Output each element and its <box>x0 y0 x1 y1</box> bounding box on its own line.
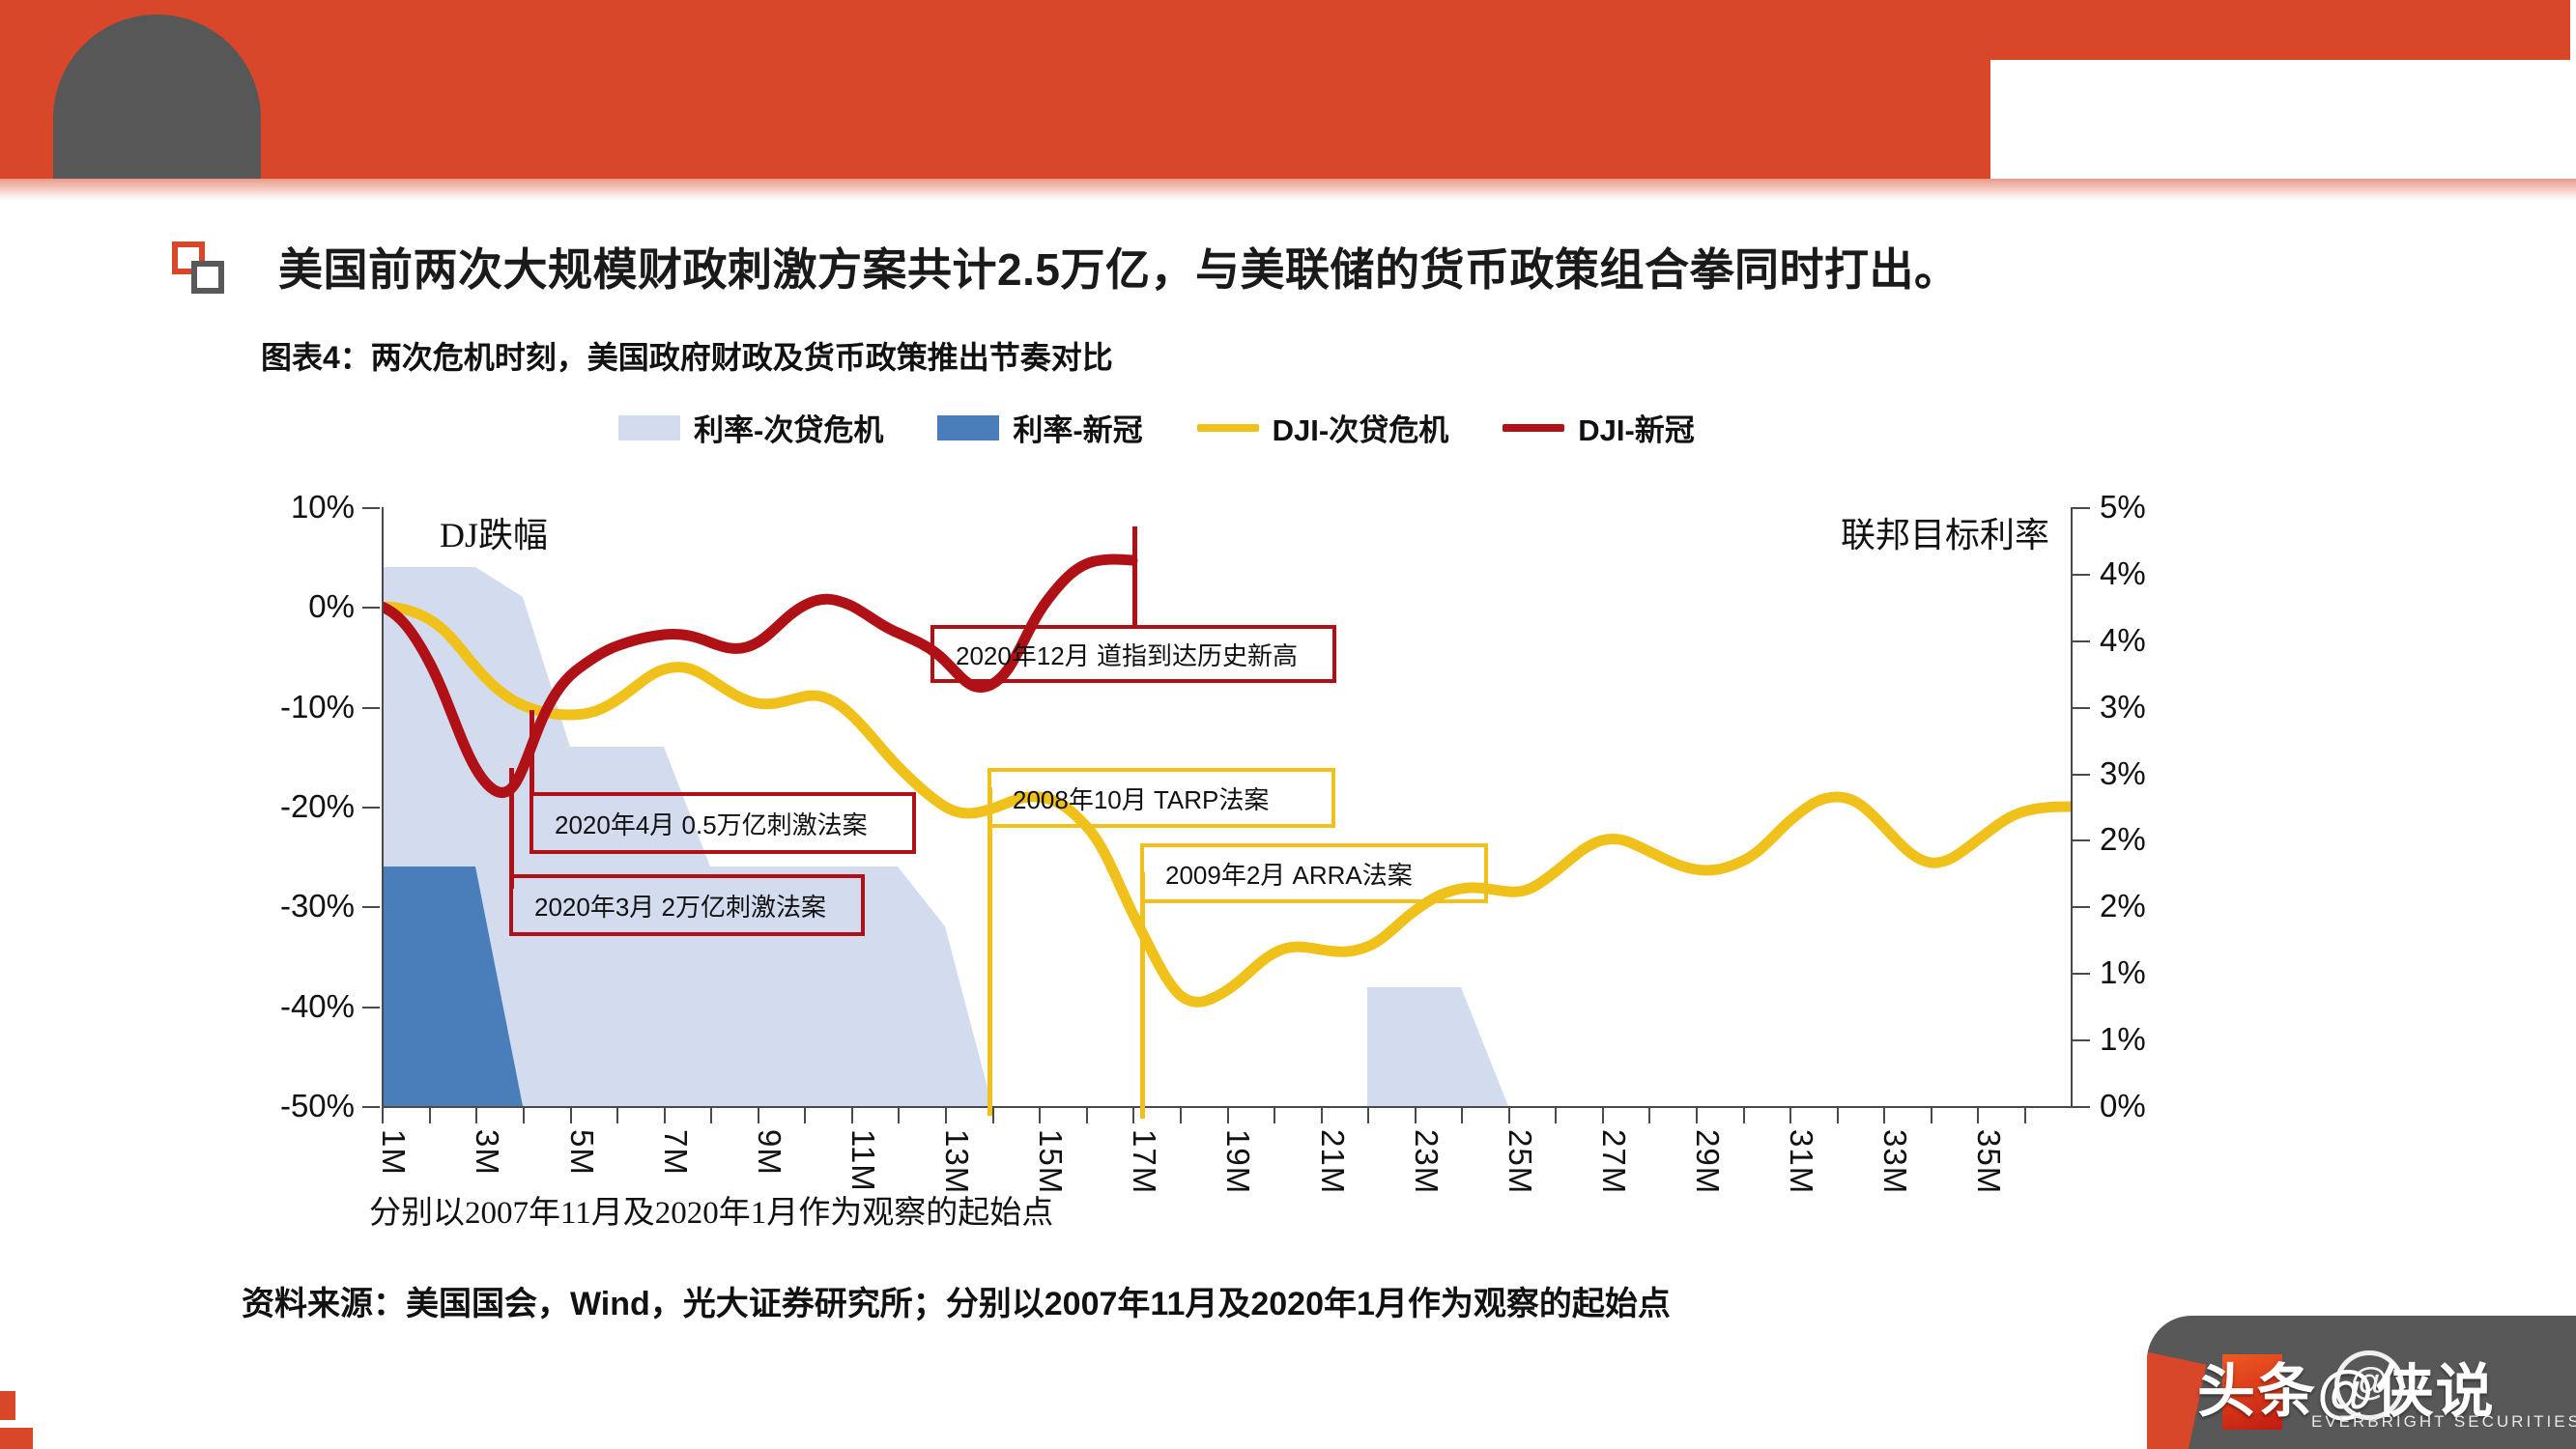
x-tick <box>945 1106 947 1123</box>
callout-text: 2020年12月 道指到达历史新高 <box>956 637 1298 672</box>
x-label: 15M <box>1032 1129 1069 1194</box>
x-tick <box>475 1106 477 1123</box>
x-label: 9M <box>751 1129 787 1176</box>
y-label-left: -40% <box>280 988 355 1025</box>
chart-plot-area: 10% 0% -10% -20% -30% -40% -50% 5% 4% 4%… <box>0 488 2576 1125</box>
y-label-right: 3% <box>2100 689 2146 725</box>
legend-swatch-icon <box>618 415 680 440</box>
y-tick-right <box>2073 774 2090 776</box>
y-tick-right <box>2073 973 2090 975</box>
y-axis-left-title: DJ跌幅 <box>440 507 548 557</box>
y-label-left: -30% <box>280 888 355 924</box>
x-label: 25M <box>1502 1129 1538 1194</box>
y-tick-right <box>2073 707 2090 709</box>
y-tick-right <box>2073 1039 2090 1041</box>
x-tick <box>570 1106 572 1123</box>
legend-label: 利率-次贷危机 <box>694 406 883 449</box>
y-tick-left <box>362 707 380 709</box>
legend-item[interactable]: DJI-新冠 <box>1503 406 1695 449</box>
y-label-right: 2% <box>2100 821 2146 858</box>
x-tick <box>1696 1106 1698 1123</box>
y-tick-right <box>2073 839 2090 841</box>
x-tick <box>1883 1106 1885 1123</box>
legend-swatch-icon <box>937 415 999 440</box>
x-label: 5M <box>563 1129 600 1176</box>
y-label-left: 10% <box>291 489 355 526</box>
y-tick-left <box>362 906 380 908</box>
legend-item[interactable]: 利率-新冠 <box>937 406 1142 449</box>
y-label-right: 1% <box>2100 954 2146 991</box>
x-tick <box>523 1106 525 1123</box>
x-tick <box>1648 1106 1650 1123</box>
y-axis-right-line <box>2071 507 2073 1106</box>
y-label-right: 2% <box>2100 888 2146 924</box>
legend-line-icon <box>1503 424 1564 432</box>
callout-stem-arra <box>1140 872 1145 1119</box>
y-axis-right-title: 联邦目标利率 <box>1841 507 2049 557</box>
header-shadow <box>0 179 2576 200</box>
callout-stem-april-2020 <box>530 710 534 792</box>
x-tick <box>429 1106 431 1123</box>
bottom-left-accent <box>0 1428 33 1449</box>
callout-dji-record-high: 2020年12月 道指到达历史新高 <box>930 625 1336 683</box>
y-tick-left <box>362 607 380 609</box>
x-label: 7M <box>657 1129 694 1176</box>
y-axis-left-line <box>382 507 384 1106</box>
y-tick-right <box>2073 906 2090 908</box>
y-tick-right <box>2073 507 2090 509</box>
y-label-left: -50% <box>280 1088 355 1124</box>
x-tick <box>992 1106 994 1123</box>
x-tick <box>1461 1106 1463 1123</box>
header-band <box>0 0 1990 179</box>
legend-label: DJI-新冠 <box>1578 406 1695 449</box>
x-tick <box>616 1106 618 1123</box>
x-label: 31M <box>1783 1129 1819 1194</box>
x-tick <box>804 1106 806 1123</box>
legend-item[interactable]: DJI-次贷危机 <box>1197 406 1449 449</box>
double-square-icon <box>172 241 226 296</box>
x-tick <box>2024 1106 2026 1123</box>
x-tick <box>1743 1106 1745 1123</box>
x-tick <box>1086 1106 1088 1123</box>
legend-label: 利率-新冠 <box>1013 406 1142 449</box>
callout-arra-2009: 2009年2月 ARRA法案 <box>1140 843 1488 903</box>
y-label-right: 4% <box>2100 622 2146 659</box>
callout-stem-tarp <box>987 787 992 1116</box>
x-label: 3M <box>469 1129 505 1176</box>
callout-text: 2020年4月 0.5万亿刺激法案 <box>555 806 868 841</box>
square-gray-icon <box>191 261 224 294</box>
x-label: 1M <box>375 1129 412 1176</box>
bottom-left-accent-2 <box>0 1391 15 1420</box>
y-label-left: -10% <box>280 689 355 725</box>
x-tick <box>758 1106 759 1123</box>
y-tick-left <box>362 1106 380 1108</box>
x-tick <box>1039 1106 1041 1123</box>
header-band-extension <box>1855 0 2570 60</box>
x-tick <box>1367 1106 1369 1123</box>
at-symbol-icon: @ <box>2334 1350 2404 1420</box>
y-label-right: 1% <box>2100 1021 2146 1058</box>
callout-text: 2020年3月 2万亿刺激法案 <box>534 888 826 923</box>
x-tick <box>1274 1106 1275 1123</box>
page-title: 美国前两次大规模财政刺激方案共计2.5万亿，与美联储的货币政策组合拳同时打出。 <box>278 235 1959 298</box>
x-tick <box>1555 1106 1557 1123</box>
callout-tarp-2008: 2008年10月 TARP法案 <box>987 768 1335 828</box>
x-tick <box>382 1106 384 1123</box>
x-tick <box>1789 1106 1791 1123</box>
x-tick <box>664 1106 666 1123</box>
y-tick-right <box>2073 574 2090 576</box>
x-tick <box>1602 1106 1604 1123</box>
x-tick <box>1415 1106 1417 1123</box>
callout-text: 2009年2月 ARRA法案 <box>1165 856 1413 892</box>
chart-footnote: 分别以2007年11月及2020年1月作为观察的起始点 <box>369 1186 1053 1233</box>
x-label: 27M <box>1595 1129 1632 1194</box>
x-label: 33M <box>1876 1129 1913 1194</box>
legend-label: DJI-次贷危机 <box>1273 406 1449 449</box>
y-tick-left <box>362 1007 380 1009</box>
callout-march-2020-stimulus: 2020年3月 2万亿刺激法案 <box>509 874 865 936</box>
x-tick <box>1977 1106 1979 1123</box>
x-label: 13M <box>938 1129 975 1194</box>
legend-item[interactable]: 利率-次贷危机 <box>618 406 883 449</box>
y-tick-left <box>362 507 380 509</box>
legend-line-icon <box>1197 424 1259 432</box>
y-label-right: 4% <box>2100 555 2146 592</box>
x-tick <box>1508 1106 1510 1123</box>
x-tick <box>1132 1106 1134 1123</box>
y-label-left: 0% <box>308 588 355 625</box>
chart-caption: 图表4：两次危机时刻，美国政府财政及货币政策推出节奏对比 <box>261 333 1113 378</box>
x-tick <box>1180 1106 1182 1123</box>
chart-legend: 利率-次贷危机 利率-新冠 DJI-次贷危机 DJI-新冠 <box>618 406 1695 449</box>
callout-stem-dji-record-high <box>1132 526 1137 625</box>
x-label: 11M <box>844 1129 881 1192</box>
y-tick-right <box>2073 1106 2090 1108</box>
y-tick-left <box>362 807 380 809</box>
x-label: 29M <box>1689 1129 1726 1194</box>
x-tick <box>1837 1106 1839 1123</box>
y-tick-right <box>2073 640 2090 642</box>
watermark-panel: 头条@侠说 @ EVERBRIGHT SECURITIES <box>2147 1316 2576 1449</box>
callout-text: 2008年10月 TARP法案 <box>1013 781 1269 816</box>
x-tick <box>1931 1106 1932 1123</box>
x-tick <box>1227 1106 1229 1123</box>
x-tick <box>1321 1106 1323 1123</box>
x-tick <box>898 1106 900 1123</box>
x-label: 23M <box>1408 1129 1445 1194</box>
y-label-left: -20% <box>280 788 355 825</box>
y-label-right: 3% <box>2100 755 2146 792</box>
x-label: 17M <box>1126 1129 1162 1194</box>
x-tick <box>710 1106 712 1123</box>
x-label: 21M <box>1314 1129 1351 1194</box>
x-label: 35M <box>1970 1129 2007 1194</box>
callout-stem-march-2020 <box>509 768 514 889</box>
watermark-subtitle: EVERBRIGHT SECURITIES <box>2311 1412 2576 1432</box>
y-label-right: 0% <box>2100 1088 2146 1124</box>
x-label: 19M <box>1219 1129 1256 1194</box>
y-label-right: 5% <box>2100 489 2146 526</box>
source-line: 资料来源：美国国会，Wind，光大证券研究所；分别以2007年11月及2020年… <box>242 1277 1671 1324</box>
callout-april-2020-stimulus: 2020年4月 0.5万亿刺激法案 <box>530 792 916 854</box>
x-tick <box>851 1106 853 1123</box>
